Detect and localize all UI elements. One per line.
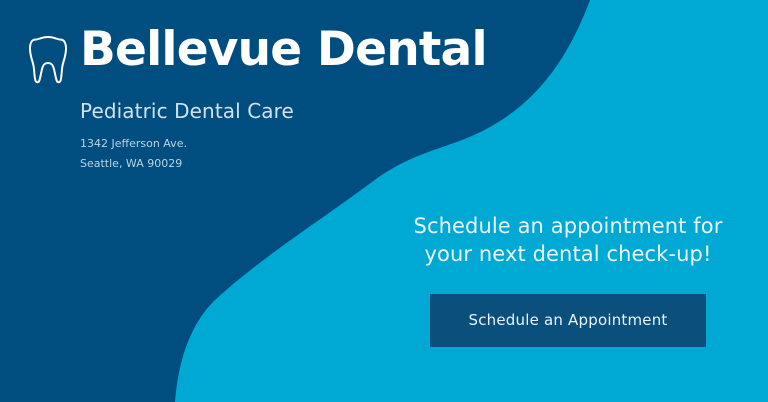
cta-headline: Schedule an appointment for your next de… <box>398 212 738 268</box>
cta-headline-line-2: your next dental check-up! <box>398 240 738 268</box>
address-city-state-zip: Seattle, WA 90029 <box>80 154 498 174</box>
cta-headline-line-1: Schedule an appointment for <box>398 212 738 240</box>
dental-promo-banner: Bellevue Dental Pediatric Dental Care 13… <box>0 0 768 402</box>
brand-address: 1342 Jefferson Ave. Seattle, WA 90029 <box>80 134 498 175</box>
brand-title-row: Bellevue Dental <box>28 26 498 86</box>
tooth-icon <box>28 32 68 86</box>
page-title: Bellevue Dental <box>80 26 487 74</box>
brand-block: Bellevue Dental Pediatric Dental Care 13… <box>28 26 498 175</box>
schedule-appointment-button[interactable]: Schedule an Appointment <box>430 294 706 347</box>
address-street: 1342 Jefferson Ave. <box>80 134 498 154</box>
brand-tagline: Pediatric Dental Care <box>80 100 498 122</box>
cta-block: Schedule an appointment for your next de… <box>398 212 738 347</box>
